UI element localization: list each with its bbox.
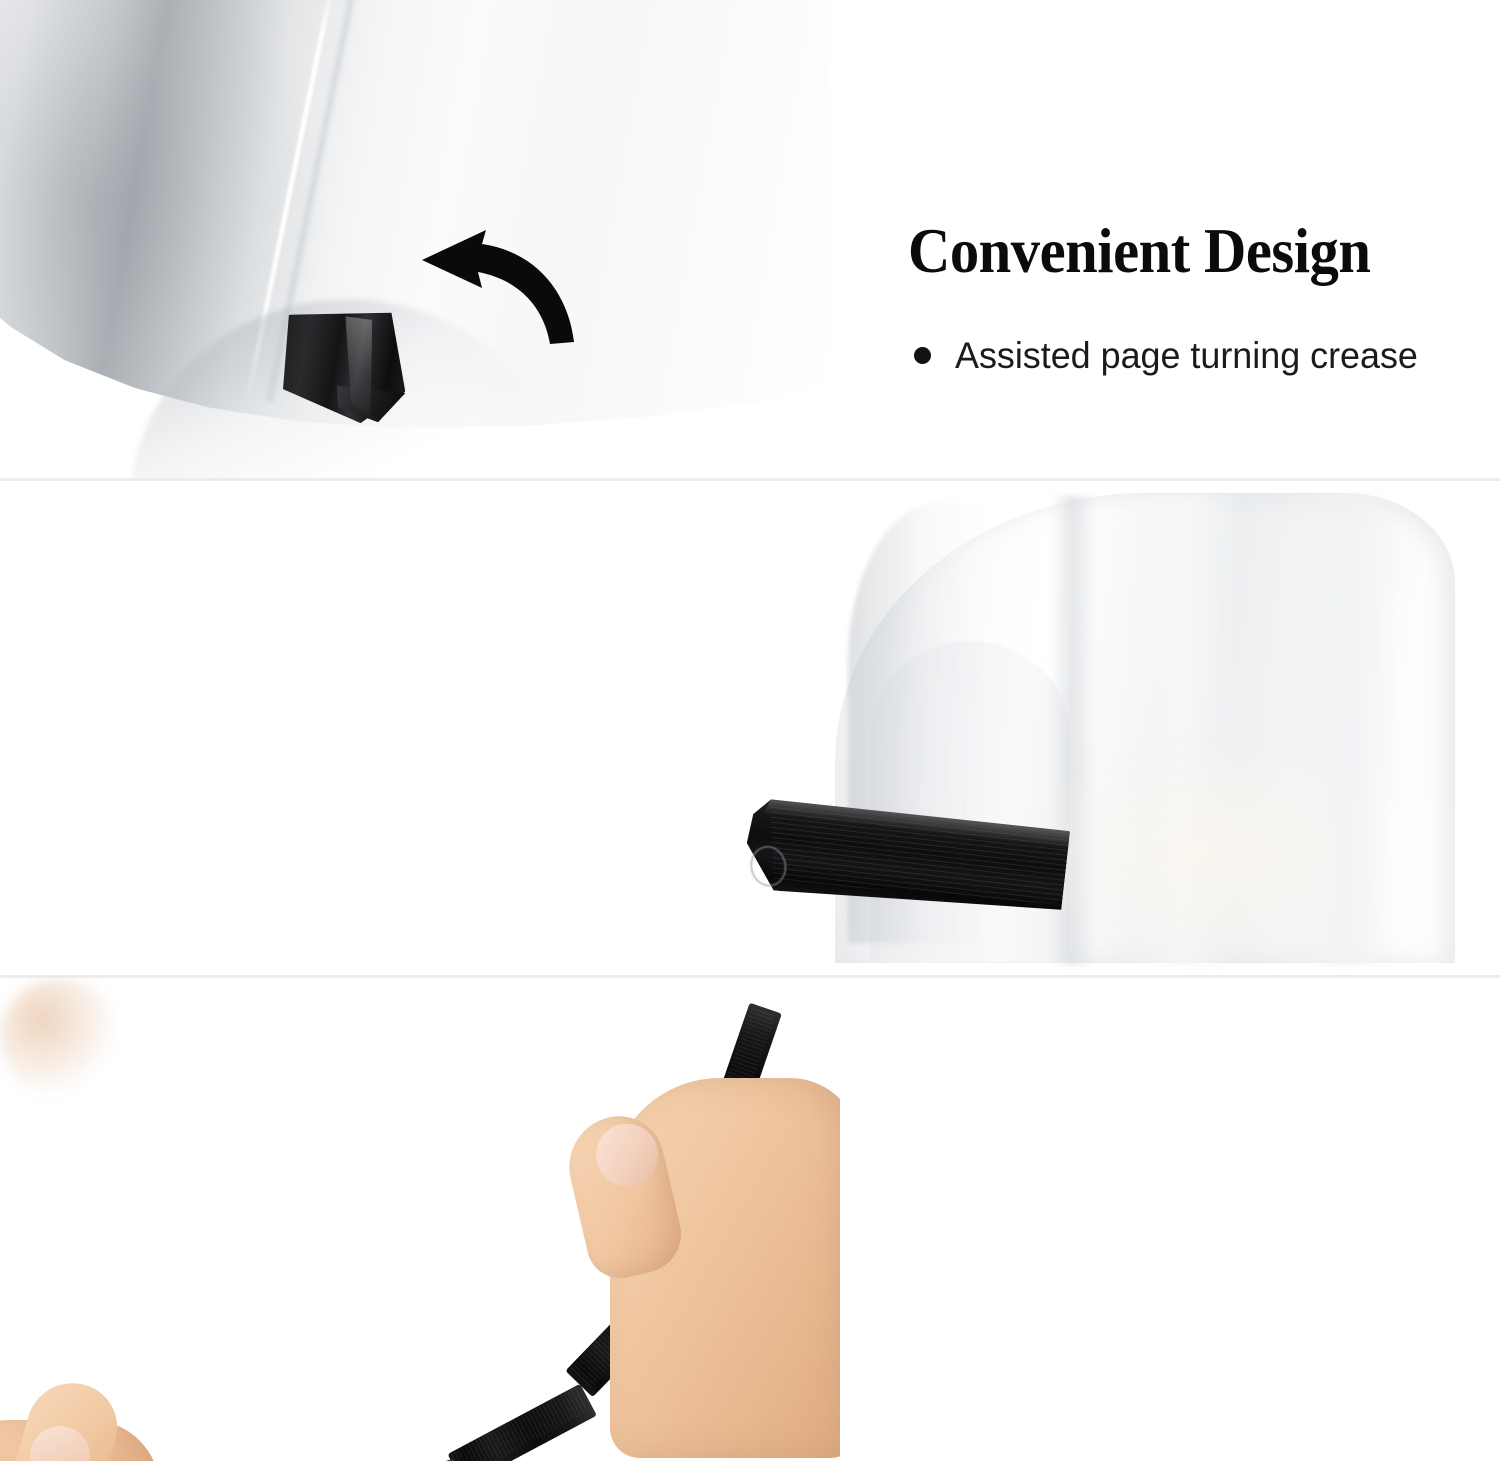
- product-feature-infographic: Convenient Design Assisted page turning …: [0, 0, 1500, 1461]
- feature-panel-premium-sliding-bar: Premium Sliding Bar 360° torsion without…: [0, 978, 1500, 1461]
- feature-panel-reliable-pp-material: Reliable PP Material Free to bend withou…: [0, 481, 1500, 975]
- product-photo-arched-cover: [730, 481, 1500, 975]
- right-hand-shading: [0, 978, 120, 1098]
- bullet-dot-icon: [914, 347, 931, 364]
- feature-text-convenient-design: Convenient Design Assisted page turning …: [908, 168, 1432, 376]
- feature-bullet: Assisted page turning crease: [914, 336, 1432, 377]
- panel-heading: Convenient Design: [908, 220, 1395, 283]
- product-photo-bending-sheet: [0, 0, 860, 478]
- curved-arrow-left-icon: [378, 226, 578, 346]
- pp-cover-soft-glow: [1030, 731, 1390, 971]
- bullet-label: Assisted page turning crease: [955, 336, 1418, 377]
- product-photo-twisting-bar: [0, 978, 840, 1461]
- feature-panel-convenient-design: Convenient Design Assisted page turning …: [0, 0, 1500, 478]
